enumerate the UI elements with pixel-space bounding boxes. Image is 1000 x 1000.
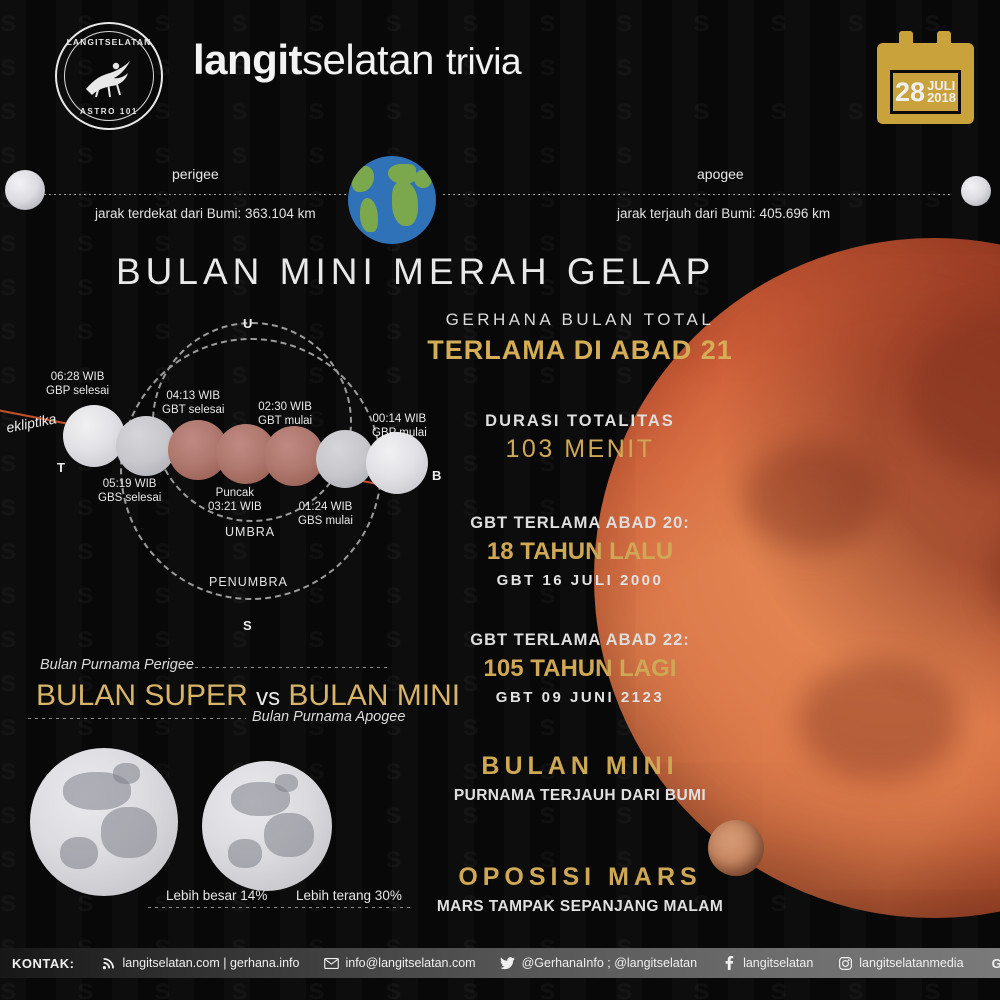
main-headline: BULAN MINI MERAH GELAP — [116, 251, 715, 293]
phase-time: 06:28 WIB — [51, 371, 105, 383]
envelope-icon — [323, 958, 339, 969]
contact-instagram[interactable]: langitselatanmedia — [837, 956, 963, 970]
moon-icon-apogee — [961, 176, 991, 206]
eclipse-kicker: GERHANA BULAN TOTAL — [400, 310, 760, 330]
contact-facebook[interactable]: langitselatan — [721, 956, 813, 970]
compare-bottom-caption: Bulan Purnama Apogee — [252, 709, 405, 725]
contact-twitter-text: @GerhanaInfo ; @langitselatan — [522, 956, 697, 970]
orbit-line-right — [443, 194, 953, 195]
stat-bigger: Lebih besar 14% — [166, 888, 267, 903]
compare-top-rule — [188, 667, 388, 668]
rss-icon — [100, 957, 116, 970]
contact-website-text: langitselatan.com | gerhana.info — [122, 956, 299, 970]
century20-value: 18 TAHUN LALU — [400, 538, 760, 566]
compare-bottom-rule — [28, 718, 246, 719]
langitselatan-logo[interactable]: LANGITSELATAN ASTRO 101 — [55, 22, 163, 130]
duration-label: DURASI TOTALITAS — [400, 412, 760, 431]
facts-column: GERHANA BULAN TOTAL TERLAMA DI ABAD 21 D… — [400, 310, 760, 916]
calendar-body: 28 JULI 2018 — [877, 43, 974, 124]
minimoon-title: BULAN MINI — [400, 752, 760, 781]
compare-top-caption: Bulan Purnama Perigee — [40, 657, 194, 673]
brand-light: selatan — [302, 36, 434, 83]
phase-event: GBS mulai — [298, 515, 353, 527]
moon-phase-gbt-mulai — [264, 426, 324, 486]
facebook-icon — [721, 956, 737, 970]
phase-label-gbt-mulai: 02:30 WIB GBT mulai — [258, 400, 312, 428]
infographic-canvas: s s s s s s s s s s s s s s s s s s s s … — [0, 0, 1000, 1000]
century20-date: GBT 16 JULI 2000 — [400, 572, 760, 589]
brand-trivia: trivia — [446, 41, 521, 82]
contact-footer: KONTAK: langitselatan.com | gerhana.info… — [0, 948, 1000, 978]
perigee-distance: jarak terdekat dari Bumi: 363.104 km — [95, 206, 316, 221]
duration-value: 103 MENIT — [400, 435, 760, 464]
contact-googleplus[interactable]: G+ LangitselatanMedia — [988, 956, 1000, 971]
phase-time: 04:13 WIB — [166, 390, 220, 402]
mars-title: OPOSISI MARS — [400, 863, 760, 892]
header: LANGITSELATAN ASTRO 101 langitselatantri… — [0, 0, 1000, 150]
eclipse-headline: TERLAMA DI ABAD 21 — [400, 335, 760, 366]
phase-time: 01:24 WIB — [299, 501, 353, 513]
earth-globe-icon — [348, 156, 436, 244]
logo-top-text: LANGITSELATAN — [57, 37, 161, 47]
moon-icon-perigee — [5, 170, 45, 210]
century22-value: 105 TAHUN LAGI — [400, 655, 760, 683]
full-moon-icon-mini — [202, 761, 332, 891]
calendar-year: 2018 — [927, 92, 956, 104]
phase-label-gbs-mulai: 01:24 WIB GBS mulai — [298, 500, 353, 528]
phase-event: GBS selesai — [98, 492, 161, 504]
phase-event: GBT selesai — [162, 404, 224, 416]
mars-planet-icon — [708, 820, 764, 876]
phase-label-gbt-selesai: 04:13 WIB GBT selesai — [162, 389, 224, 417]
moon-phase-gbs-selesai — [116, 416, 176, 476]
moon-phase-gbp-selesai — [63, 405, 125, 467]
apogee-label: apogee — [697, 166, 744, 182]
instagram-icon — [837, 957, 853, 970]
orbit-line-left — [44, 194, 354, 195]
contact-website[interactable]: langitselatan.com | gerhana.info — [100, 956, 299, 970]
peak-label: Puncak — [216, 487, 254, 499]
marker-west: T — [57, 460, 65, 475]
full-moon-icon-super — [30, 748, 178, 896]
contact-email[interactable]: info@langitselatan.com — [323, 956, 475, 970]
compare-title-vs: vs — [256, 684, 280, 711]
calendar-date-display: 28 JULI 2018 — [890, 70, 961, 114]
phase-time: 02:30 WIB — [258, 401, 312, 413]
twitter-icon — [500, 957, 516, 970]
phase-time: 05:19 WIB — [103, 478, 157, 490]
phase-label-puncak: Puncak 03:21 WIB — [208, 486, 262, 514]
contact-instagram-text: langitselatanmedia — [859, 956, 963, 970]
supermoon-comparison: Bulan Purnama Perigee BULAN SUPER vs BUL… — [0, 655, 420, 935]
orbit-distance-row: perigee jarak terdekat dari Bumi: 363.10… — [0, 158, 1000, 244]
stat-brighter: Lebih terang 30% — [296, 888, 402, 903]
minimoon-subtitle: PURNAMA TERJAUH DARI BUMI — [400, 787, 760, 805]
marker-south: S — [243, 618, 252, 633]
horse-rider-seal-icon — [80, 53, 138, 99]
phase-event: GBP selesai — [46, 385, 109, 397]
phase-label-gbp-selesai: 06:28 WIB GBP selesai — [46, 370, 109, 398]
contact-email-text: info@langitselatan.com — [345, 956, 475, 970]
phase-label-gbs-selesai: 05:19 WIB GBS selesai — [98, 477, 161, 505]
phase-event: GBT mulai — [258, 415, 312, 427]
marker-north: U — [243, 316, 252, 331]
logo-bottom-text: ASTRO 101 — [57, 107, 161, 116]
perigee-label: perigee — [172, 166, 219, 182]
compare-title: BULAN SUPER vs BULAN MINI — [36, 679, 460, 713]
brand-bold: langit — [193, 36, 302, 83]
peak-time: 03:21 WIB — [208, 501, 262, 513]
apogee-distance: jarak terjauh dari Bumi: 405.696 km — [617, 206, 830, 221]
compare-stats-rule — [148, 907, 414, 908]
century20-label: GBT TERLAMA ABAD 20: — [400, 514, 760, 533]
century22-label: GBT TERLAMA ABAD 22: — [400, 631, 760, 650]
penumbra-label: PENUMBRA — [209, 575, 288, 589]
calendar-icon: 28 JULI 2018 — [877, 31, 974, 124]
contact-twitter[interactable]: @GerhanaInfo ; @langitselatan — [500, 956, 697, 970]
contact-label: KONTAK: — [12, 956, 74, 971]
contact-facebook-text: langitselatan — [743, 956, 813, 970]
calendar-day: 28 — [895, 79, 925, 106]
googleplus-icon: G+ — [988, 956, 1000, 971]
century22-date: GBT 09 JUNI 2123 — [400, 689, 760, 706]
umbra-label: UMBRA — [225, 525, 275, 539]
page-title: langitselatantrivia — [193, 36, 521, 84]
compare-title-left: BULAN SUPER — [36, 679, 248, 712]
mars-subtitle: MARS TAMPAK SEPANJANG MALAM — [400, 898, 760, 916]
calendar-month-year: JULI 2018 — [927, 80, 956, 105]
